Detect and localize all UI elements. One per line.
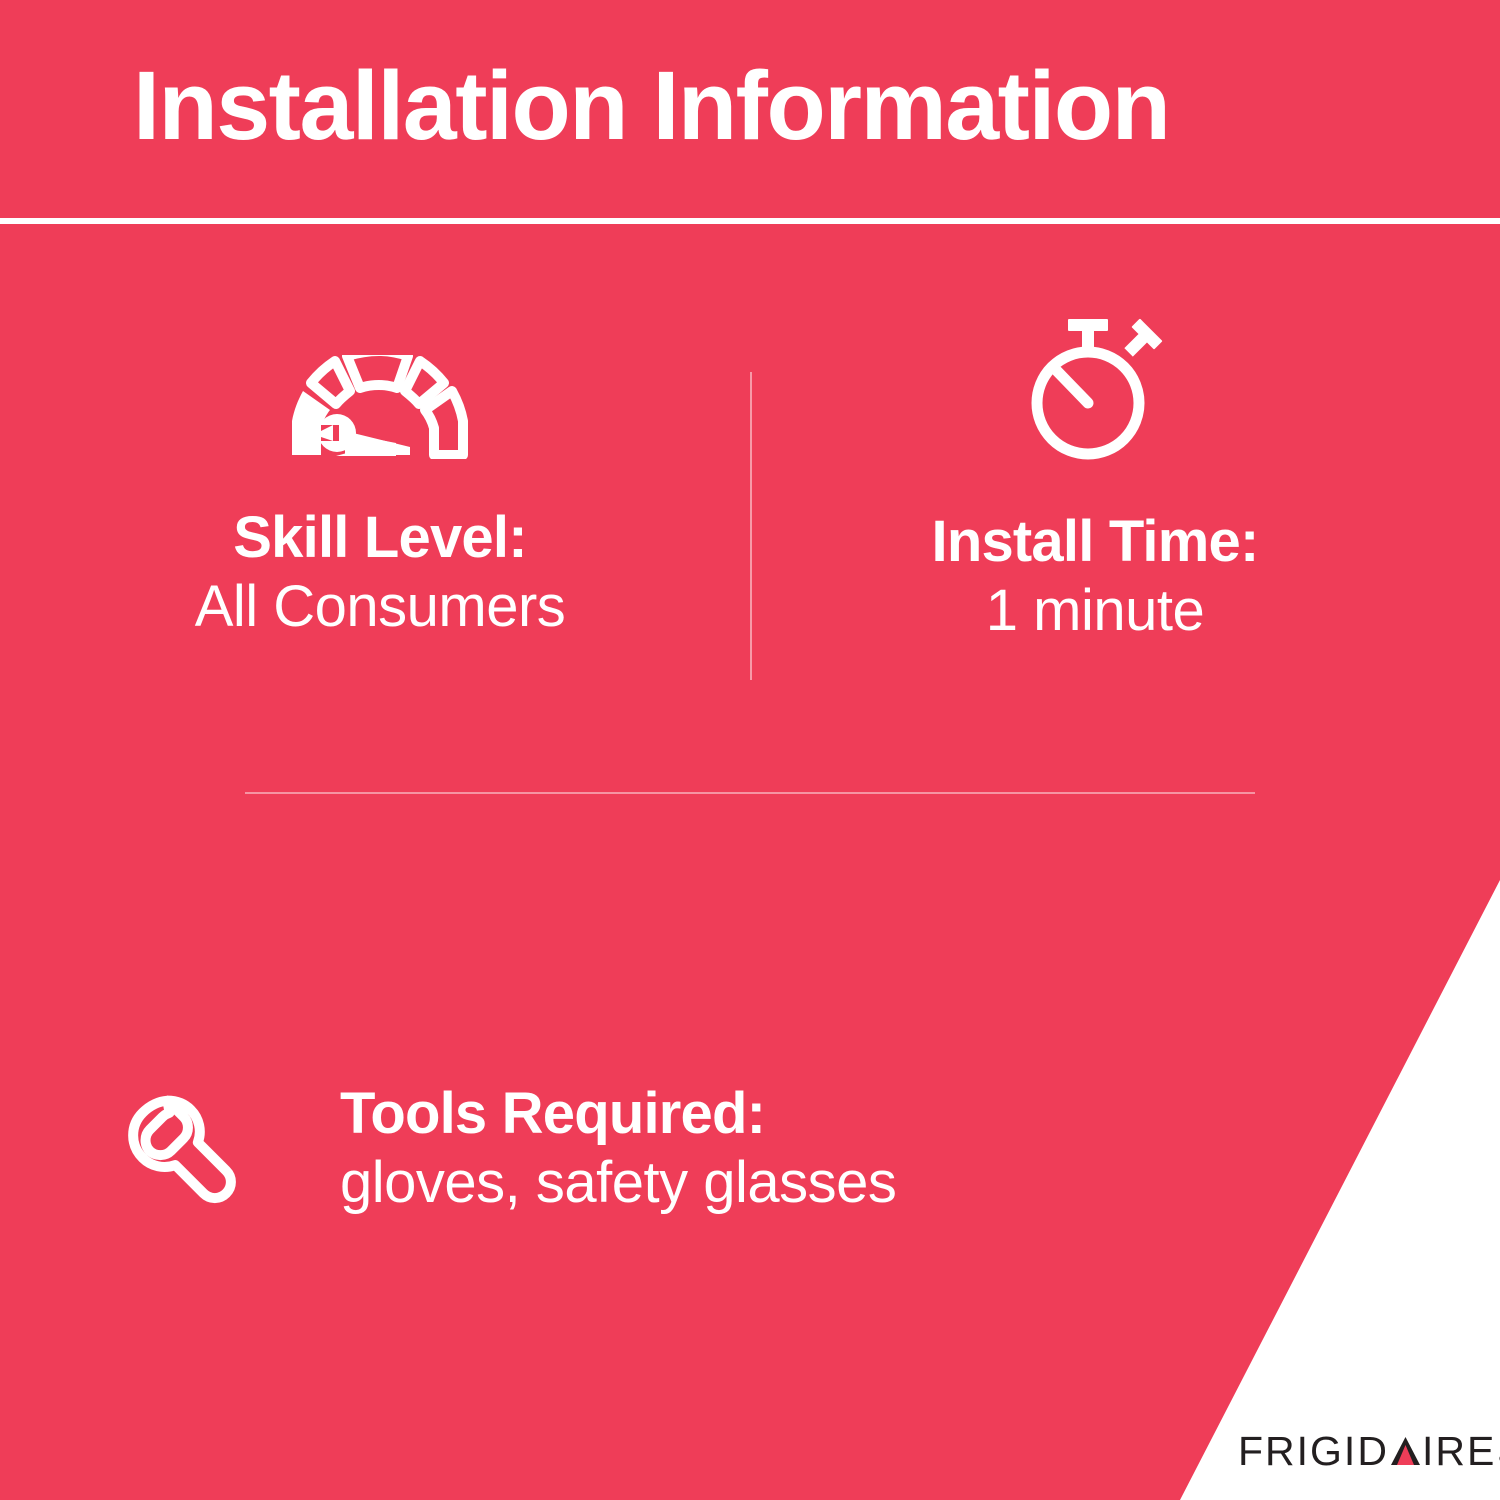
stopwatch-icon — [800, 315, 1390, 468]
install-time-value: 1 minute — [800, 576, 1390, 647]
skill-level-heading: Skill Level: — [60, 504, 700, 572]
tools-required-text: Tools Required: gloves, safety glasses — [340, 1080, 896, 1219]
wrench-icon — [118, 1088, 248, 1223]
tools-required-value: gloves, safety glasses — [340, 1148, 896, 1219]
page-title: Installation Information — [133, 52, 1413, 161]
install-time-block: Install Time: 1 minute — [800, 315, 1390, 647]
logo-triangle-a-icon — [1390, 1436, 1421, 1466]
vertical-divider — [750, 372, 752, 680]
tools-required-heading: Tools Required: — [340, 1080, 896, 1148]
header-divider-rule — [0, 218, 1500, 224]
gauge-wrench-icon — [60, 355, 700, 464]
install-time-heading: Install Time: — [800, 508, 1390, 576]
horizontal-divider — [245, 792, 1255, 794]
logo-text-part2: IRE — [1422, 1428, 1496, 1475]
installation-information-card: Installation Information — [0, 0, 1500, 1500]
skill-level-block: Skill Level: All Consumers — [60, 355, 700, 643]
logo-text-part1: FRIGID — [1238, 1428, 1389, 1475]
tools-required-block: Tools Required: gloves, safety glasses — [118, 1080, 1148, 1223]
frigidaire-logo: FRIGID IRE ® — [1238, 1428, 1500, 1475]
skill-level-value: All Consumers — [60, 572, 700, 643]
